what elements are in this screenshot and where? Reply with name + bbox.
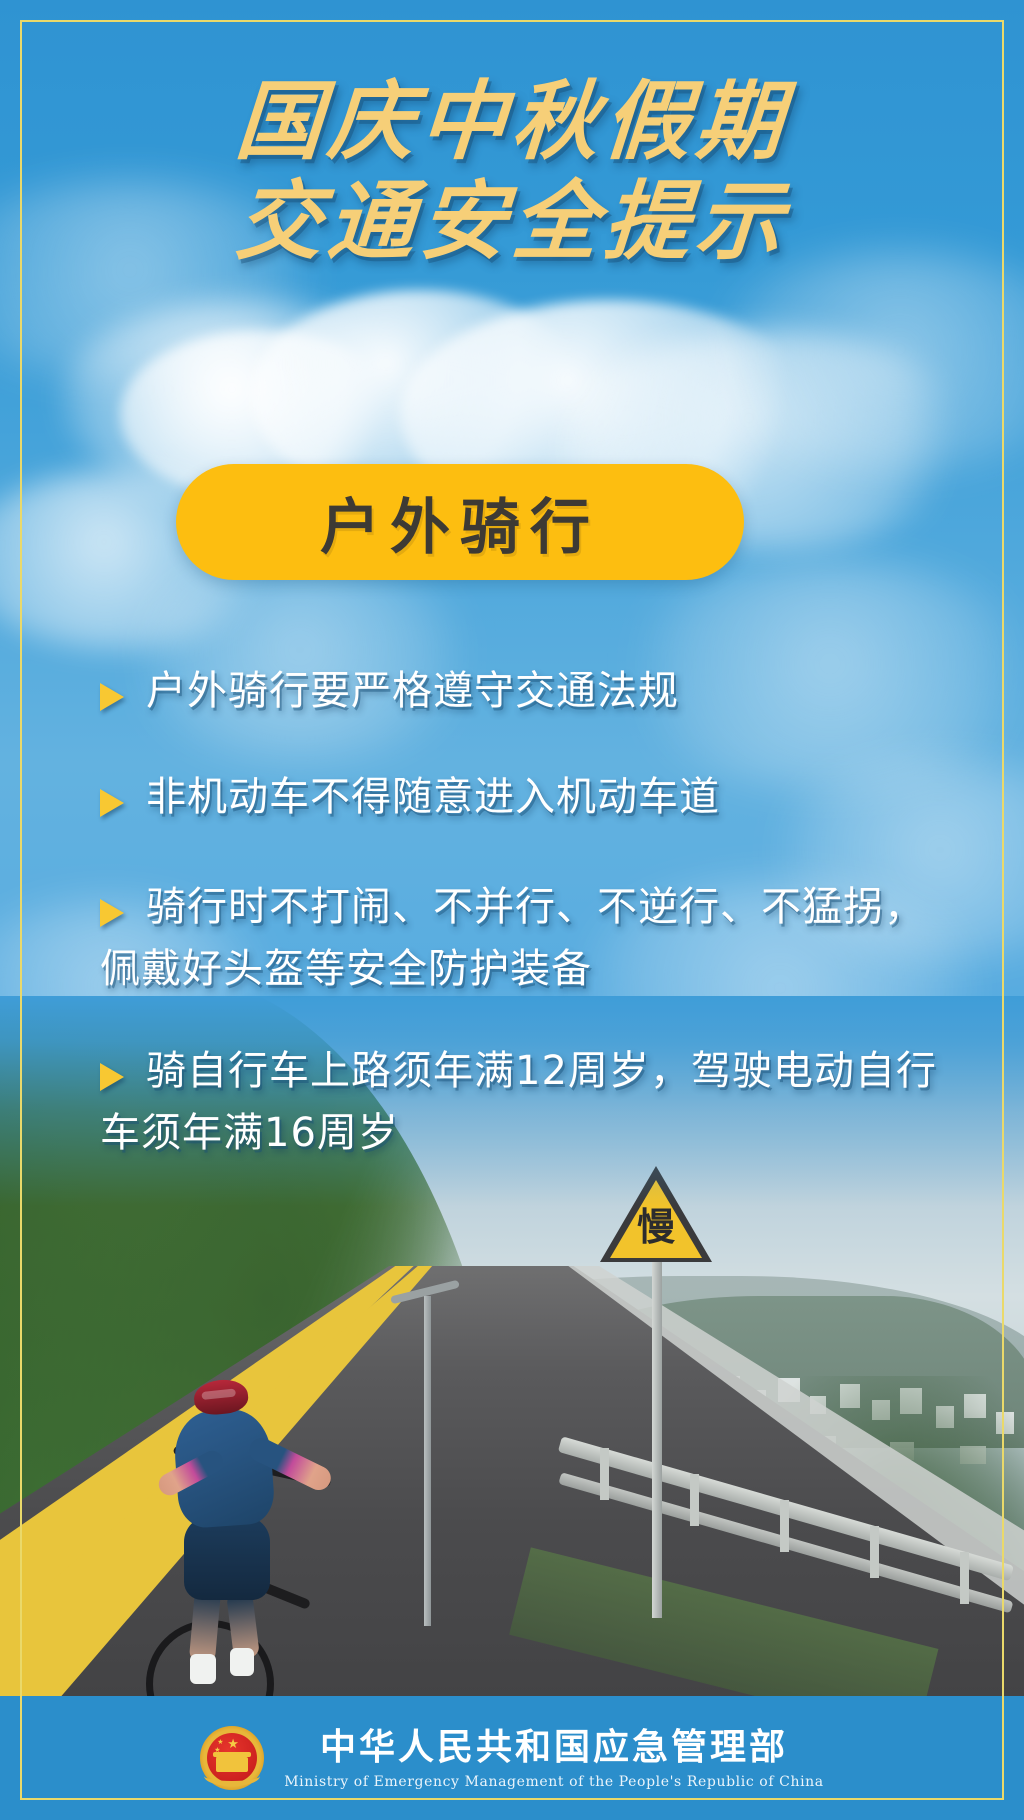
footer-org-name-en: Ministry of Emergency Management of the …	[284, 1774, 824, 1790]
section-banner: 户外骑行	[176, 464, 744, 580]
bullet-triangle-icon	[100, 789, 124, 817]
footer-org: 中华人民共和国应急管理部 Ministry of Emergency Manag…	[284, 1727, 824, 1790]
poster-canvas: 国庆中秋假期 交通安全提示 户外骑行 户外骑行要严格遵守交通法规 非机动车不得随…	[0, 0, 1024, 1820]
cyclist-sock	[190, 1654, 216, 1684]
national-emblem-icon: ★ ★ ★ ★ ★	[200, 1726, 264, 1790]
title-line-1: 国庆中秋假期	[0, 72, 1024, 172]
list-item: 非机动车不得随意进入机动车道	[100, 766, 950, 828]
footer-bar: ★ ★ ★ ★ ★ 中华人民共和国应急管理部 Ministry of Emerg…	[0, 1696, 1024, 1820]
tips-list: 户外骑行要严格遵守交通法规 非机动车不得随意进入机动车道 骑行时不打闹、不并行、…	[100, 660, 950, 1164]
bullet-triangle-icon	[100, 1063, 124, 1091]
title-line-2: 交通安全提示	[0, 172, 1024, 272]
page-title: 国庆中秋假期 交通安全提示	[0, 72, 1024, 272]
list-item: 户外骑行要严格遵守交通法规	[100, 660, 950, 722]
tip-text: 非机动车不得随意进入机动车道	[146, 774, 720, 820]
photo-cyclist	[150, 1366, 360, 1696]
cyclist-sock	[230, 1648, 254, 1676]
tip-text: 骑自行车上路须年满12周岁，驾驶电动自行车须年满16周岁	[100, 1048, 937, 1156]
list-item: 骑行时不打闹、不并行、不逆行、不猛拐，佩戴好头盔等安全防护装备	[100, 876, 950, 1000]
photo-guardrail	[560, 1436, 1024, 1636]
bullet-triangle-icon	[100, 899, 124, 927]
footer-org-name-cn: 中华人民共和国应急管理部	[320, 1727, 788, 1769]
tip-text: 户外骑行要严格遵守交通法规	[146, 668, 679, 714]
road-sign-pole	[652, 1258, 662, 1618]
list-item: 骑自行车上路须年满12周岁，驾驶电动自行车须年满16周岁	[100, 1040, 950, 1164]
section-banner-label: 户外骑行	[320, 479, 600, 566]
cyclist-shorts	[184, 1516, 270, 1600]
bullet-triangle-icon	[100, 683, 124, 711]
tip-text: 骑行时不打闹、不并行、不逆行、不猛拐，佩戴好头盔等安全防护装备	[100, 884, 925, 992]
road-sign-glyph: 慢	[600, 1208, 712, 1246]
photo-streetlight-pole	[424, 1296, 431, 1626]
